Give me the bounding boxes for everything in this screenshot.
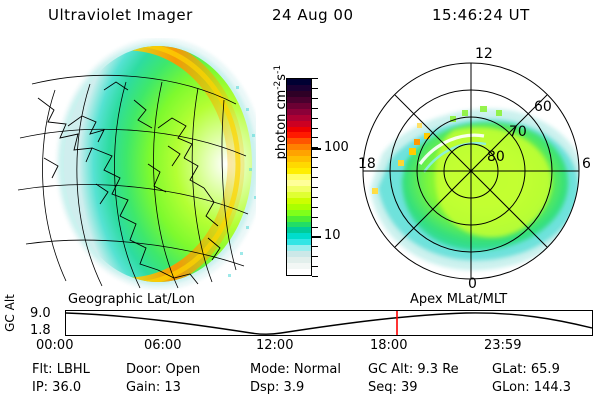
colorbar-tick-13 <box>312 207 318 208</box>
colorbar-tick-label-10: 10 <box>324 229 341 242</box>
status-ip: IP: 36.0 <box>32 380 81 395</box>
mlt-label-12: 12 <box>475 46 493 62</box>
colorbar-tick-6 <box>312 137 318 138</box>
mlt-label-0: 0 <box>468 276 477 290</box>
time-tick-2359: 23:59 <box>484 338 521 353</box>
status-glat: GLat: 65.9 <box>492 362 560 377</box>
colorbar-unit-exp1: -2 <box>273 81 283 90</box>
mlat-label-80: 80 <box>487 149 505 165</box>
status-door: Door: Open <box>126 362 200 377</box>
status-glon: GLon: 144.3 <box>492 380 571 395</box>
colorbar-tick-17 <box>312 246 318 247</box>
colorbar-tick-9 <box>312 167 318 168</box>
geographic-image-panel[interactable] <box>8 38 256 290</box>
time-tick-1200: 12:00 <box>256 338 293 353</box>
gc-alt-min-label: 1.8 <box>30 323 51 338</box>
status-gc-alt: GC Alt: 9.3 Re <box>368 362 459 377</box>
time-tick-0000: 00:00 <box>36 338 73 353</box>
colorbar-gradient <box>286 78 312 276</box>
colorbar-major-tick <box>312 236 321 238</box>
colorbar-tick-2 <box>312 98 318 99</box>
altitude-plot-area[interactable] <box>65 310 593 336</box>
observation-date: 24 Aug 00 <box>272 6 354 24</box>
time-axis: 00:00 06:00 12:00 18:00 23:59 <box>0 338 600 358</box>
colorbar-tick-0 <box>312 78 318 79</box>
colorbar-tick-1 <box>312 88 318 89</box>
colorbar-tick-5 <box>312 128 318 129</box>
status-filter: Flt: LBHL <box>32 362 90 377</box>
colorbar-ticks <box>312 78 320 276</box>
colorbar: photon cm-2s-1 100 10 <box>258 58 358 290</box>
mlt-label-6: 6 <box>582 156 591 172</box>
colorbar-tick-3 <box>312 108 318 109</box>
colorbar-tick-10 <box>312 177 318 178</box>
status-footer: Flt: LBHL IP: 36.0 Door: Open Gain: 13 M… <box>0 362 600 400</box>
colorbar-tick-19 <box>312 266 318 267</box>
status-mode: Mode: Normal <box>250 362 341 377</box>
colorbar-unit-exp2: -1 <box>273 65 283 74</box>
apex-aurora-polar-plot: 12 18 6 0 60 70 80 <box>358 38 596 290</box>
colorbar-tick-label-100: 100 <box>324 141 349 154</box>
colorbar-band-32 <box>287 269 311 275</box>
colorbar-tick-12 <box>312 197 318 198</box>
status-seq: Seq: 39 <box>368 380 418 395</box>
time-tick-0600: 06:00 <box>144 338 181 353</box>
page-title: Ultraviolet Imager <box>48 6 193 24</box>
colorbar-tick-20 <box>312 276 318 277</box>
gc-alt-axis-label: GC Alt <box>3 290 17 336</box>
apex-polar-panel[interactable]: 12 18 6 0 60 70 80 <box>358 38 596 290</box>
colorbar-tick-18 <box>312 256 318 257</box>
status-gain: Gain: 13 <box>126 380 181 395</box>
time-tick-1800: 18:00 <box>370 338 407 353</box>
geographic-panel-title: Geographic Lat/Lon <box>68 292 195 307</box>
header-bar: Ultraviolet Imager 24 Aug 00 15:46:24 UT <box>0 6 600 32</box>
colorbar-tick-14 <box>312 217 318 218</box>
mlt-label-18: 18 <box>358 156 376 172</box>
apex-panel-title: Apex MLat/MLT <box>410 292 507 307</box>
altitude-trace <box>66 311 592 335</box>
observation-time: 15:46:24 UT <box>432 6 530 24</box>
geographic-aurora-image <box>8 38 256 290</box>
colorbar-tick-8 <box>312 157 318 158</box>
colorbar-tick-11 <box>312 187 318 188</box>
mlat-label-70: 70 <box>509 124 527 140</box>
colorbar-tick-15 <box>312 227 318 228</box>
gc-alt-max-label: 9.0 <box>30 306 51 321</box>
colorbar-tick-4 <box>312 118 318 119</box>
orbit-altitude-strip[interactable]: Geographic Lat/Lon Apex MLat/MLT GC Alt … <box>0 292 600 338</box>
mlat-label-60: 60 <box>534 99 552 115</box>
colorbar-major-tick <box>312 148 321 150</box>
status-dsp: Dsp: 3.9 <box>250 380 304 395</box>
